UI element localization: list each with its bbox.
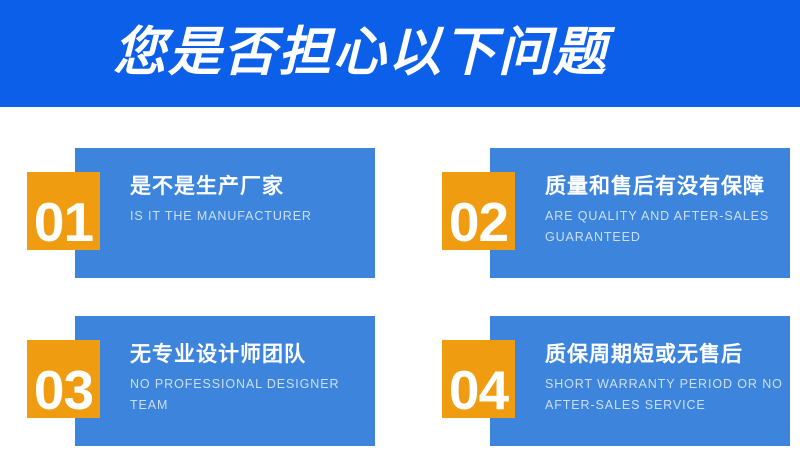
card-number-badge: 03 bbox=[27, 340, 100, 418]
card-title: 无专业设计师团队 bbox=[130, 342, 370, 368]
card-text-block: 质量和售后有没有保障 ARE QUALITY AND AFTER-SALES G… bbox=[545, 174, 785, 248]
card-subtitle: ARE QUALITY AND AFTER-SALES GUARANTEED bbox=[545, 206, 785, 248]
card-number-badge: 04 bbox=[442, 340, 515, 418]
card-number-badge: 01 bbox=[27, 172, 100, 250]
card-subtitle: IS IT THE MANUFACTURER bbox=[130, 206, 370, 227]
card-number-badge: 02 bbox=[442, 172, 515, 250]
card-subtitle: NO PROFESSIONAL DESIGNER TEAM bbox=[130, 374, 370, 416]
concern-card-grid: 01 是不是生产厂家 IS IT THE MANUFACTURER 02 质量和… bbox=[0, 107, 800, 447]
concern-card-02: 02 质量和售后有没有保障 ARE QUALITY AND AFTER-SALE… bbox=[430, 148, 790, 308]
concern-card-03: 03 无专业设计师团队 NO PROFESSIONAL DESIGNER TEA… bbox=[15, 316, 375, 476]
header-banner: 您是否担心以下问题 bbox=[0, 0, 800, 107]
card-text-block: 质保周期短或无售后 SHORT WARRANTY PERIOD OR NO AF… bbox=[545, 342, 785, 416]
card-title: 是不是生产厂家 bbox=[130, 174, 370, 200]
card-title: 质保周期短或无售后 bbox=[545, 342, 785, 368]
card-subtitle: SHORT WARRANTY PERIOD OR NO AFTER-SALES … bbox=[545, 374, 785, 416]
concern-card-01: 01 是不是生产厂家 IS IT THE MANUFACTURER bbox=[15, 148, 375, 308]
concern-card-04: 04 质保周期短或无售后 SHORT WARRANTY PERIOD OR NO… bbox=[430, 316, 790, 476]
page-title: 您是否担心以下问题 bbox=[113, 22, 608, 84]
card-number: 04 bbox=[442, 362, 515, 418]
card-text-block: 是不是生产厂家 IS IT THE MANUFACTURER bbox=[130, 174, 370, 227]
card-number: 02 bbox=[442, 194, 515, 250]
card-title: 质量和售后有没有保障 bbox=[545, 174, 785, 200]
card-number: 01 bbox=[27, 194, 100, 250]
card-number: 03 bbox=[27, 362, 100, 418]
card-text-block: 无专业设计师团队 NO PROFESSIONAL DESIGNER TEAM bbox=[130, 342, 370, 416]
